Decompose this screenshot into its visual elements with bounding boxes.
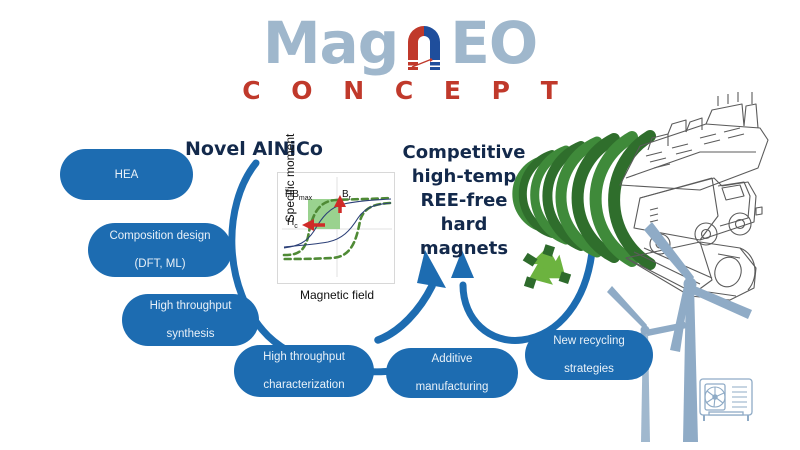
chart-label-hbmax: HBmax [285,189,312,202]
pill-synthesis-line-1: High throughput [150,299,232,313]
logo-subtitle: C O N C E P T [0,76,800,105]
pill-additive-line-1: Additive [416,352,489,366]
logo-text-mag: Mag [263,9,398,77]
heading-line-3: REE-free hard [398,189,530,237]
pill-hea-line-1: HEA [115,168,139,182]
heading-novel-alnico: Novel AlNiCo [185,138,323,160]
pill-characterization-line-2: characterization [263,378,345,392]
pill-synthesis-line-2: synthesis [150,327,232,341]
pill-high-throughput-synthesis[interactable]: High throughput synthesis [122,294,259,346]
chart-label-hc: Hc [287,217,298,230]
pill-additive-manufacturing[interactable]: Additive manufacturing [386,348,518,398]
cargo-ship-icon [620,92,768,190]
pill-composition-line-2: (DFT, ML) [109,257,210,271]
logo-wordmark: Mag EO [263,14,537,72]
pill-characterization-line-1: High throughput [263,350,345,364]
pill-high-throughput-characterization[interactable]: High throughput characterization [234,345,374,397]
pill-recycling-line-2: strategies [553,362,625,376]
heading-competitive-magnets: Competitive high-temp REE-free hard magn… [398,141,530,261]
recycling-symbol-icon [523,244,575,293]
pill-composition-design[interactable]: Composition design (DFT, ML) [88,223,232,277]
pill-composition-line-1: Composition design [109,229,210,243]
magneo-logo: Mag EO C O N C E P T [0,14,800,105]
semi-truck-icon [634,178,762,254]
blue-curved-arrow-right [451,250,592,340]
green-magnetic-wave-arcs [516,136,650,264]
logo-text-eo: EO [450,9,537,77]
pill-additive-line-2: manufacturing [416,380,489,394]
infographic-canvas: Mag EO C O N C E P T [0,0,800,450]
high-speed-train-icon [626,242,756,300]
heat-pump-unit-icon [700,379,752,421]
chart-label-br: Br [342,189,351,202]
heading-line-1: Competitive [398,141,530,165]
pill-new-recycling-strategies[interactable]: New recycling strategies [525,330,653,380]
heading-line-4: magnets [398,237,530,261]
hysteresis-loop-chart: Specific moment Magnetic field [277,172,395,284]
chart-x-axis-label: Magnetic field [270,288,404,302]
horseshoe-magnet-icon [398,15,450,71]
pill-recycling-line-1: New recycling [553,334,625,348]
heading-line-2: high-temp [398,165,530,189]
pill-hea[interactable]: HEA [60,149,193,200]
